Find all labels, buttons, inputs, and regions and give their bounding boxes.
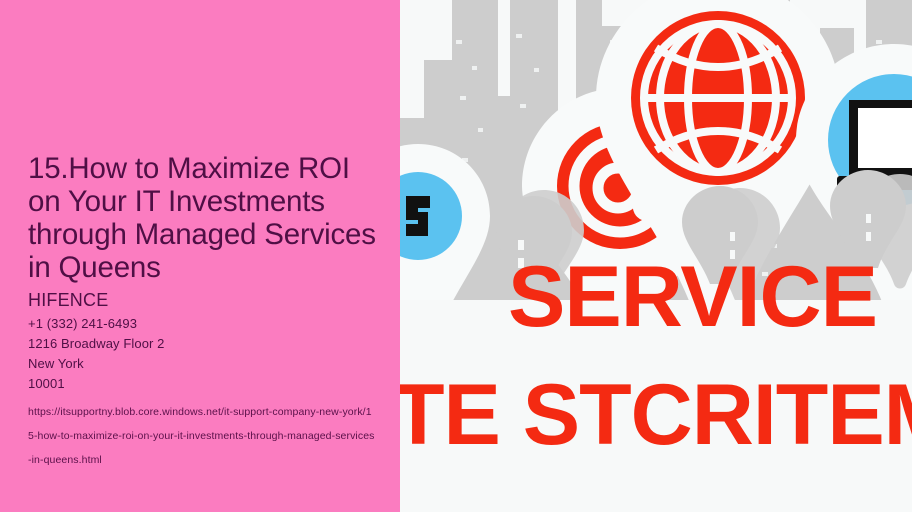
article-info-panel: 15.How to Maximize ROI on Your IT Invest… bbox=[0, 0, 400, 512]
source-url-link[interactable]: https://itsupportny.blob.core.windows.ne… bbox=[28, 400, 376, 472]
illustration-graphic bbox=[400, 0, 912, 512]
page-title: 15.How to Maximize ROI on Your IT Invest… bbox=[28, 152, 380, 284]
company-street: 1216 Broadway Floor 2 bbox=[28, 334, 380, 354]
company-zip: 10001 bbox=[28, 374, 380, 394]
company-name: HIFENCE bbox=[28, 290, 380, 311]
company-phone: +1 (332) 241-6493 bbox=[28, 314, 380, 334]
company-city: New York bbox=[28, 354, 380, 374]
illustration-ground-front bbox=[400, 300, 912, 512]
page-root: 15.How to Maximize ROI on Your IT Invest… bbox=[0, 0, 912, 512]
article-info-content: 15.How to Maximize ROI on Your IT Invest… bbox=[28, 152, 380, 472]
hero-illustration-panel: SERVICE TE STCRITEM bbox=[400, 0, 912, 512]
